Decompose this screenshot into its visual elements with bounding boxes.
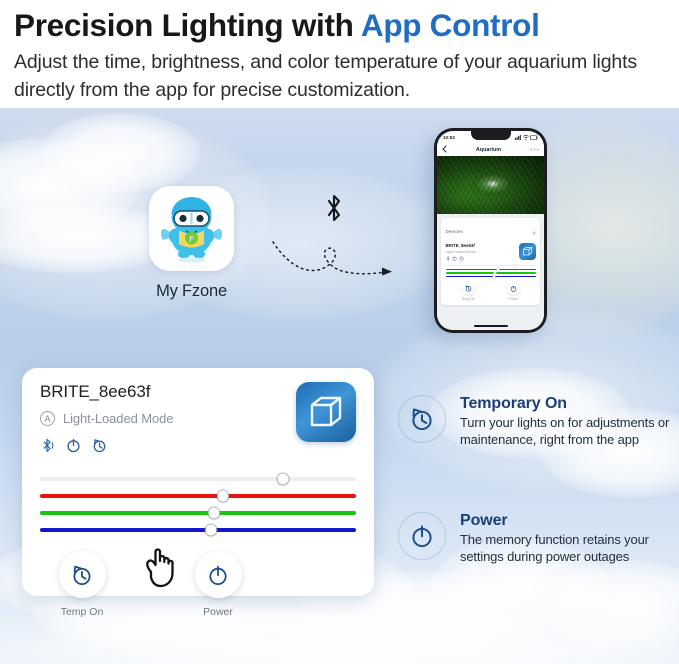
- my-fzone-mascot-icon[interactable]: F: [149, 186, 234, 271]
- phone-sliders: [446, 265, 536, 277]
- aquarium-photo: [437, 156, 544, 214]
- feature-title: Power: [460, 512, 679, 530]
- card-action-buttons: Temp On Power: [40, 551, 356, 618]
- timer-icon: [59, 551, 106, 598]
- slider-red[interactable]: [40, 494, 356, 498]
- cloud: [40, 113, 200, 193]
- timer-icon: [398, 395, 446, 443]
- phone-screen: 10:53 Aquarium D: [437, 131, 544, 330]
- battery-icon: [530, 135, 538, 140]
- dotted-arrow-icon: [270, 233, 400, 288]
- slider-knob[interactable]: [496, 268, 499, 271]
- feature-text: Temporary On Turn your lights on for adj…: [460, 395, 679, 449]
- feature-power: Power The memory function retains your s…: [398, 512, 679, 566]
- phone-device-row: BRITE_8ee63f Light-Loaded Mode: [446, 243, 536, 261]
- slider-green[interactable]: [40, 511, 356, 515]
- power-label: Power: [194, 606, 242, 618]
- phone-temp-on-label: Temp On: [461, 297, 475, 301]
- more-icon[interactable]: [530, 147, 539, 153]
- phone-content: Devices BRITE_8ee63f Light-Loaded Mode: [437, 214, 544, 330]
- temp-on-button[interactable]: Temp On: [58, 551, 106, 618]
- app-icon-block: F My Fzone: [144, 186, 239, 301]
- phone-nav-title: Aquarium: [476, 147, 501, 153]
- power-icon: [195, 551, 242, 598]
- phone-nav-bar: Aquarium: [437, 144, 544, 156]
- page-title-main: Precision Lighting with: [14, 7, 361, 43]
- page-subtitle: Adjust the time, brightness, and color t…: [14, 49, 665, 104]
- power-icon: [398, 512, 446, 560]
- slider-knob[interactable]: [205, 525, 216, 536]
- slider-knob[interactable]: [493, 275, 496, 278]
- slider-blue[interactable]: [40, 528, 356, 532]
- feature-title: Temporary On: [460, 395, 679, 413]
- app-label: My Fzone: [144, 282, 239, 301]
- bluetooth-icon[interactable]: [40, 437, 55, 459]
- svg-text:F: F: [188, 234, 195, 244]
- slider-brightness[interactable]: [40, 477, 356, 481]
- phone-slider-red[interactable]: [446, 269, 536, 270]
- page-title: Precision Lighting with App Control: [14, 8, 665, 43]
- phone-slider-brightness[interactable]: [446, 265, 536, 266]
- phone-devices-header: Devices: [446, 222, 536, 240]
- slider-knob[interactable]: [513, 264, 516, 267]
- temp-on-label: Temp On: [58, 606, 106, 618]
- phone-temp-on-button[interactable]: Temp On: [461, 282, 475, 301]
- timer-icon[interactable]: [459, 256, 464, 261]
- home-indicator: [474, 325, 508, 327]
- phone-notch: [471, 131, 511, 140]
- phone-slider-blue[interactable]: [446, 276, 536, 277]
- slider-knob[interactable]: [208, 508, 219, 519]
- product-feature-graphic: Precision Lighting with App Control Adju…: [0, 0, 679, 664]
- phone-device-card: Devices BRITE_8ee63f Light-Loaded Mode: [441, 218, 540, 305]
- phone-mockup: 10:53 Aquarium D: [434, 128, 547, 333]
- timer-icon: [462, 282, 475, 295]
- phone-device-name: BRITE_8ee63f: [446, 243, 476, 248]
- auto-mode-icon: A: [40, 411, 55, 426]
- header: Precision Lighting with App Control Adju…: [0, 0, 679, 105]
- feature-temporary-on: Temporary On Turn your lights on for adj…: [398, 395, 679, 449]
- phone-slider-green[interactable]: [446, 272, 536, 273]
- phone-power-button[interactable]: Power: [507, 282, 520, 301]
- pointing-hand-cursor: [140, 543, 184, 594]
- bluetooth-icon[interactable]: [446, 256, 450, 261]
- phone-add-icon[interactable]: [532, 222, 536, 240]
- device-control-card: BRITE_8ee63f A Light-Loaded Mode: [22, 368, 374, 596]
- device-mode-label: Light-Loaded Mode: [63, 411, 173, 426]
- timer-icon[interactable]: [92, 437, 107, 459]
- bluetooth-icon: [322, 192, 346, 231]
- status-icons: [515, 135, 538, 140]
- slider-knob[interactable]: [278, 474, 289, 485]
- cube-icon[interactable]: [296, 382, 356, 442]
- cube-icon[interactable]: [519, 243, 536, 260]
- phone-device-icons: [446, 256, 476, 261]
- phone-device-info: BRITE_8ee63f Light-Loaded Mode: [446, 243, 476, 261]
- signal-icon: [515, 135, 521, 140]
- power-icon: [507, 282, 520, 295]
- phone-power-label: Power: [507, 297, 520, 301]
- color-sliders: [40, 477, 356, 532]
- phone-card-buttons: Temp On Power: [446, 282, 536, 301]
- feature-description: Turn your lights on for adjustments or m…: [460, 415, 679, 449]
- phone-devices-label: Devices: [446, 229, 463, 234]
- power-icon[interactable]: [452, 256, 457, 261]
- slider-knob[interactable]: [218, 491, 229, 502]
- page-title-accent: App Control: [361, 7, 540, 43]
- phone-device-mode: Light-Loaded Mode: [446, 250, 476, 254]
- wifi-icon: [523, 135, 529, 140]
- status-time: 10:53: [443, 135, 455, 140]
- power-icon[interactable]: [66, 437, 81, 459]
- feature-text: Power The memory function retains your s…: [460, 512, 679, 566]
- power-button[interactable]: Power: [194, 551, 242, 618]
- feature-description: The memory function retains your setting…: [460, 532, 679, 566]
- slider-knob[interactable]: [494, 271, 497, 274]
- chevron-left-icon[interactable]: [442, 145, 447, 155]
